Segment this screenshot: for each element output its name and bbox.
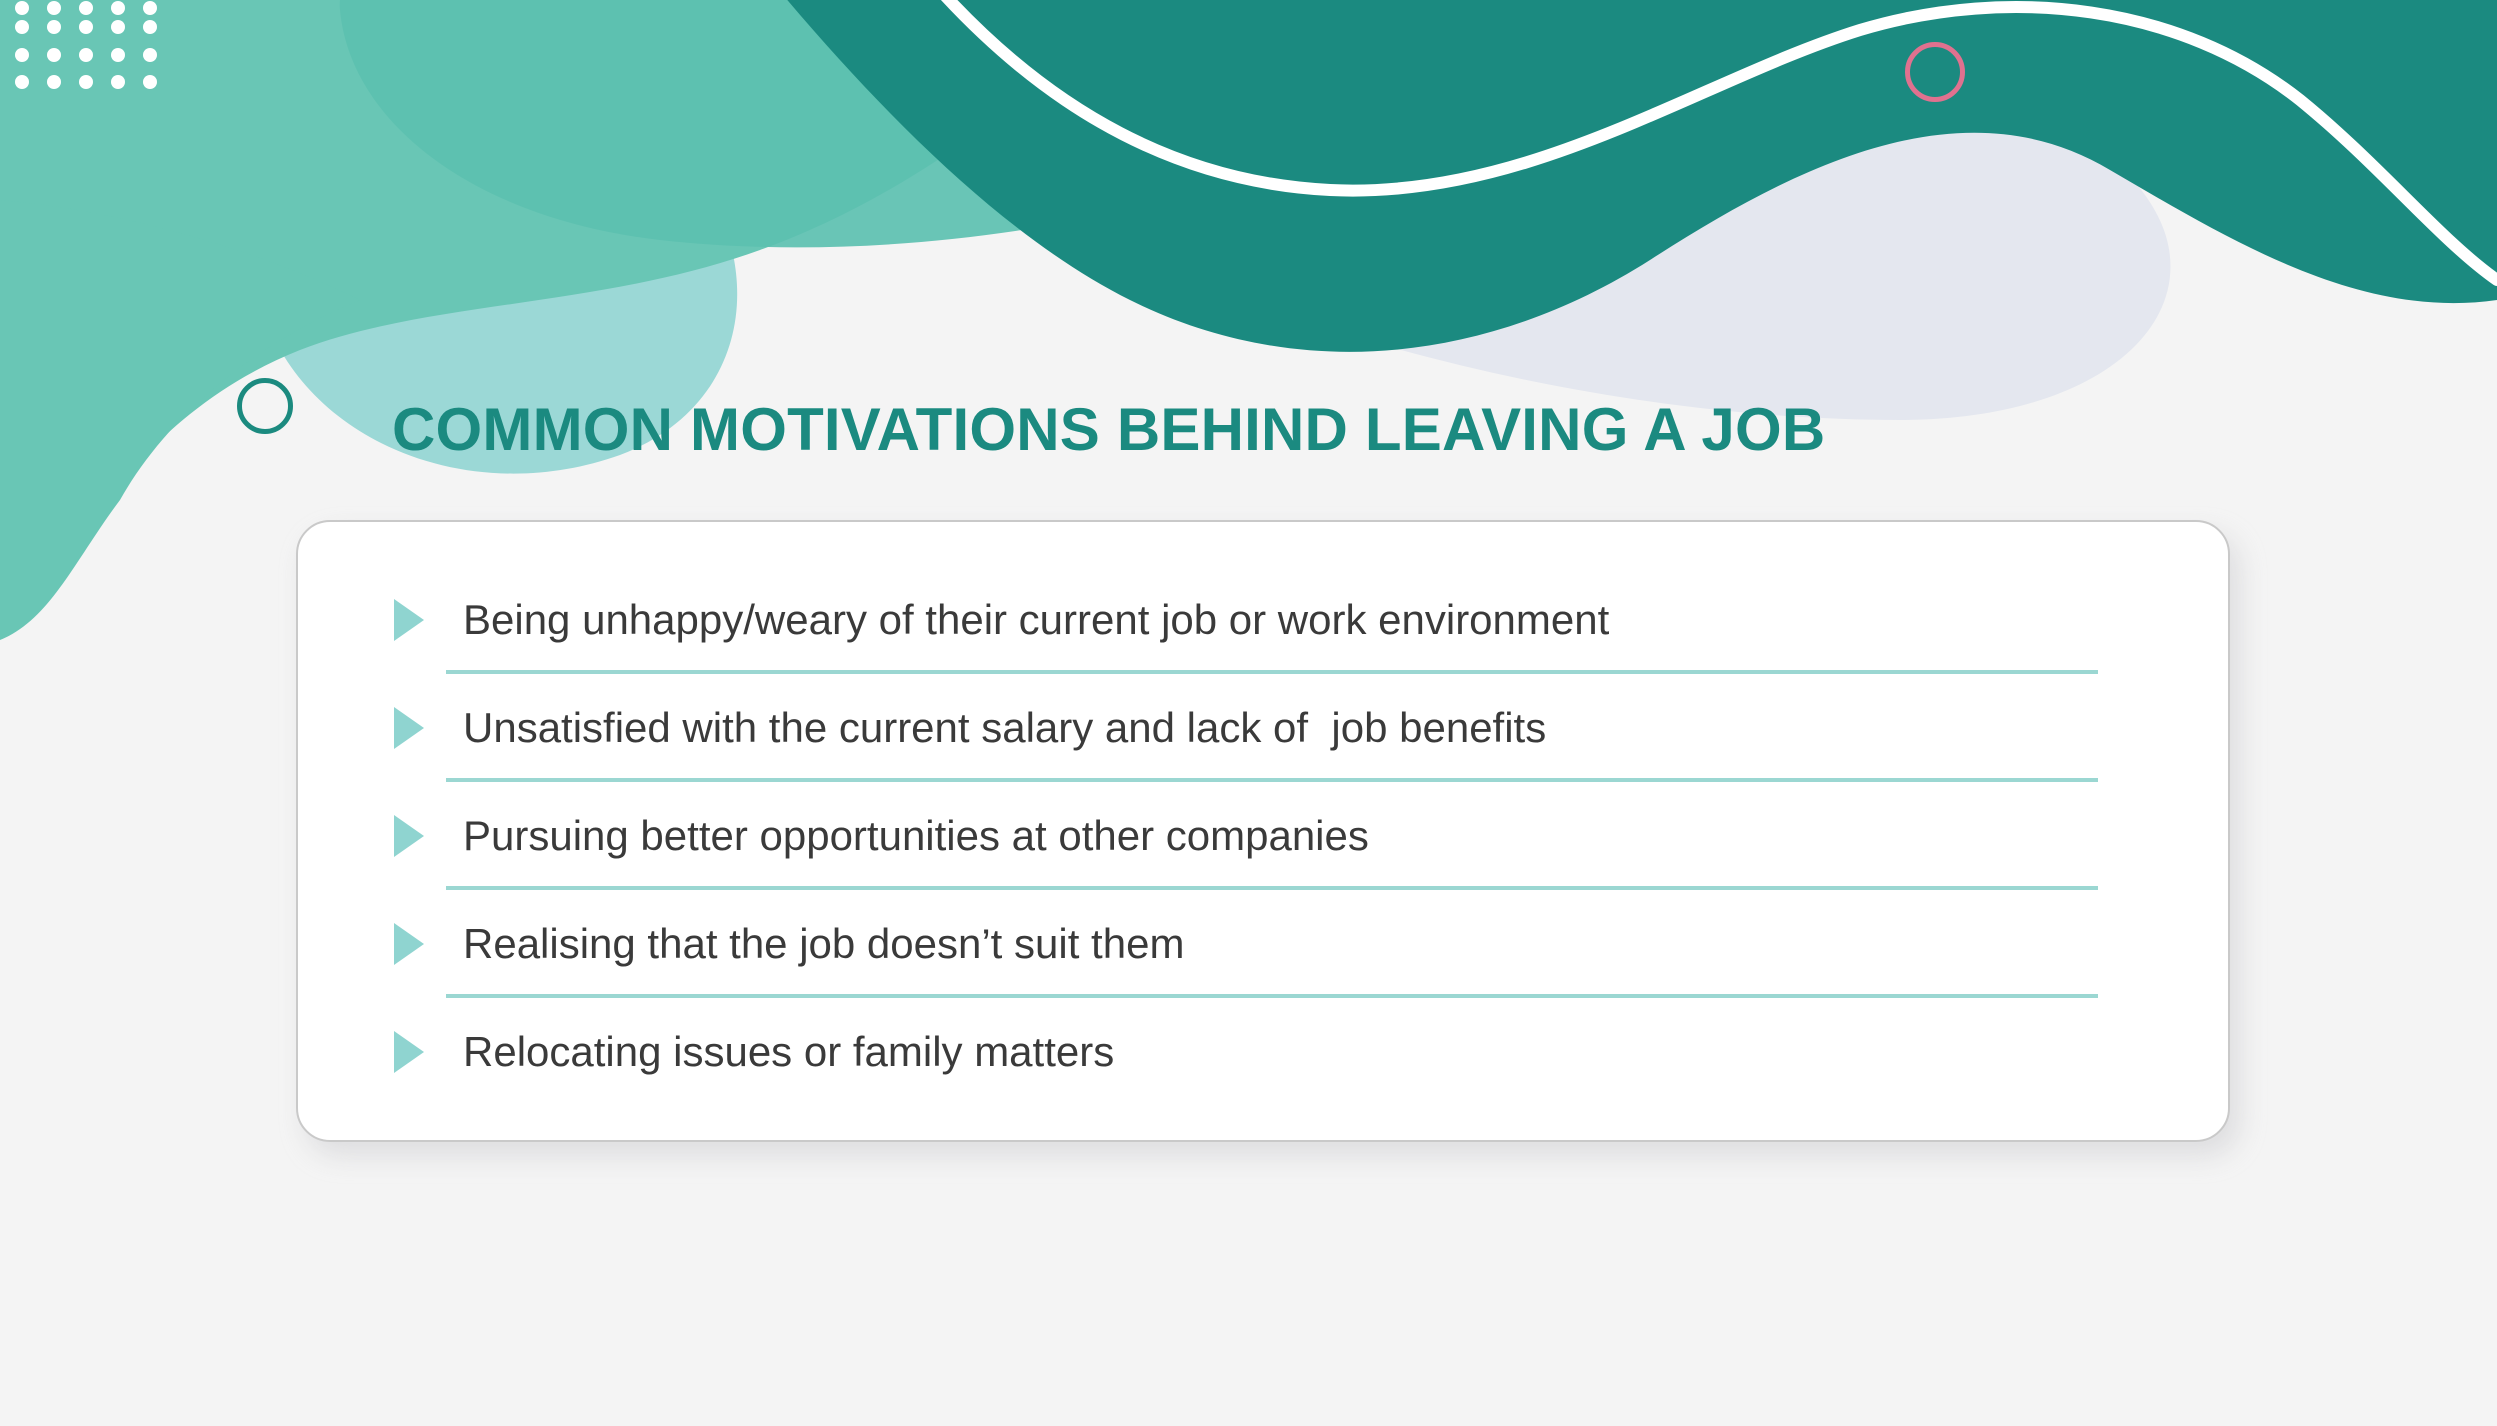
list-item-label: Realising that the job doesn’t suit them [463, 921, 1184, 967]
triangle-right-icon [394, 1031, 424, 1073]
list-item-label: Relocating issues or family matters [463, 1029, 1114, 1075]
triangle-right-icon [394, 923, 424, 965]
blob-mid-teal [340, 0, 1330, 247]
white-wave-line [860, 0, 2497, 280]
content-card: Being unhappy/weary of their current job… [296, 520, 2230, 1142]
list-item-label: Being unhappy/weary of their current job… [463, 597, 1609, 643]
list-item: Pursuing better opportunities at other c… [298, 782, 2228, 890]
dot-grid-pattern [15, 1, 157, 89]
teal-circle-outline-icon [237, 378, 293, 434]
list-item-label: Unsatisfied with the current salary and … [463, 705, 1546, 751]
list-item: Relocating issues or family matters [298, 998, 2228, 1106]
blob-lavender [869, 0, 2171, 420]
triangle-right-icon [394, 815, 424, 857]
list-item: Realising that the job doesn’t suit them [298, 890, 2228, 998]
pink-circle-outline-icon [1905, 42, 1965, 102]
motivations-list: Being unhappy/weary of their current job… [298, 522, 2228, 1140]
list-item: Being unhappy/weary of their current job… [298, 566, 2228, 674]
list-item-label: Pursuing better opportunities at other c… [463, 813, 1369, 859]
slide-canvas: COMMON MOTIVATIONS BEHIND LEAVING A JOB … [0, 0, 2497, 1426]
list-item: Unsatisfied with the current salary and … [298, 674, 2228, 782]
triangle-right-icon [394, 599, 424, 641]
slide-title: COMMON MOTIVATIONS BEHIND LEAVING A JOB [392, 398, 1825, 461]
blob-dark-teal [690, 0, 2497, 352]
triangle-right-icon [394, 707, 424, 749]
